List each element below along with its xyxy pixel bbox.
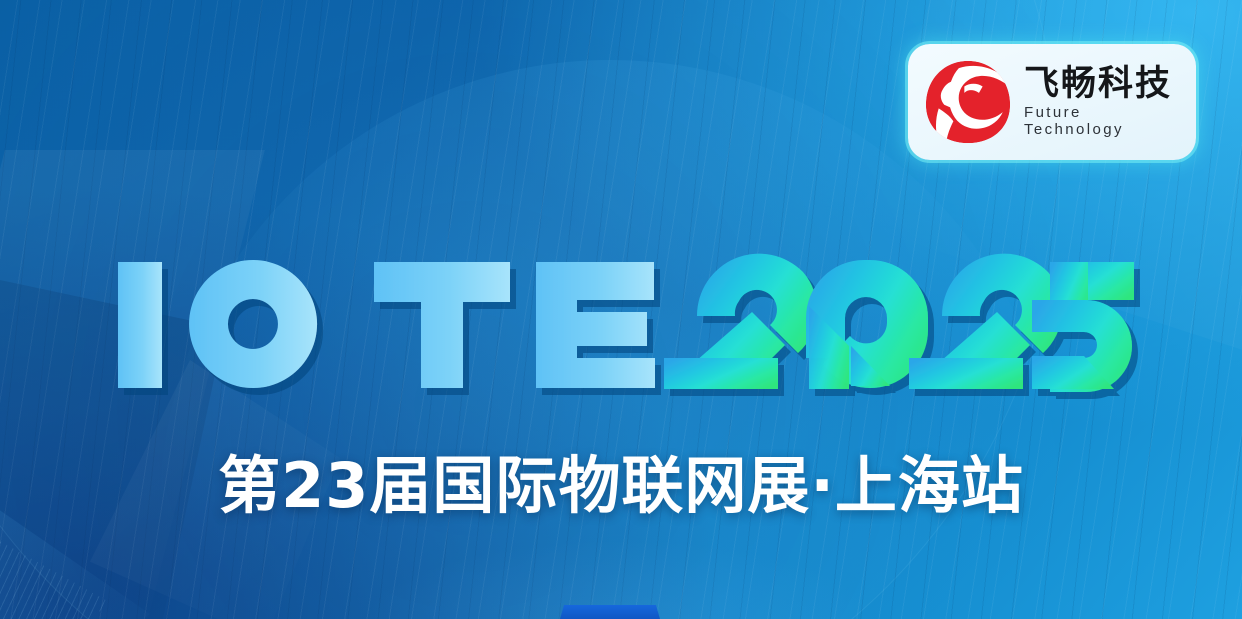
wordmark-year-2025 [664,254,1134,392]
event-subtitle: 第23届国际物联网展·上海站 [0,452,1242,520]
logo-english-name: Future Technology [1024,104,1184,138]
logo-text-block: 飞畅科技 Future Technology [1024,66,1184,139]
iote-2025-wordmark [112,248,1092,403]
background-facet-bottom-left-lines [0,520,110,619]
bottom-center-glow [360,539,880,619]
iote-2025-event-banner: 飞畅科技 Future Technology [0,0,1242,619]
bottom-center-chip [560,605,660,619]
fei-chang-red-circle-logo-icon [922,59,1014,145]
company-logo-badge[interactable]: 飞畅科技 Future Technology [908,44,1196,160]
wordmark-iote-letters [118,260,655,388]
iote-2025-wordmark-svg [112,248,1092,403]
logo-chinese-name: 飞畅科技 [1024,66,1184,103]
